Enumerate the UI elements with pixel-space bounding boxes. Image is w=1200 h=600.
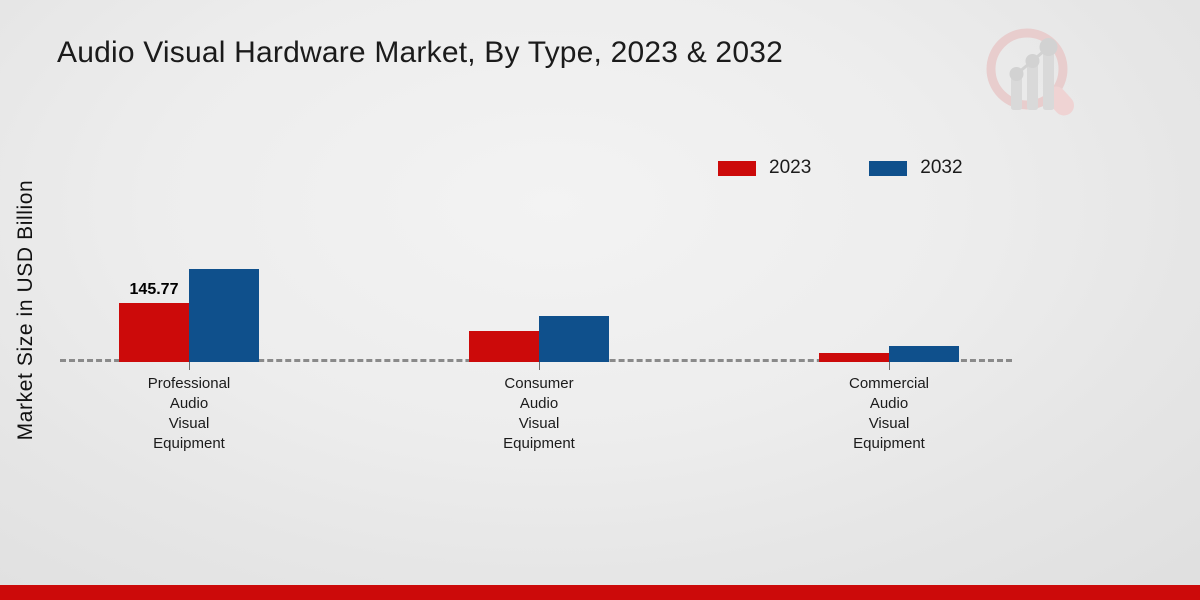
- category-line: Audio: [434, 394, 644, 414]
- footer-accent-bar: [0, 585, 1200, 600]
- plot-area: 145.77 Professional Audio Visual Equipme…: [60, 150, 1012, 362]
- bar-2032-consumer[interactable]: [539, 316, 609, 362]
- category-line: Visual: [784, 414, 994, 434]
- page-title: Audio Visual Hardware Market, By Type, 2…: [57, 36, 783, 70]
- category-line: Visual: [84, 414, 294, 434]
- x-axis-tick: [189, 362, 190, 370]
- category-label-consumer: Consumer Audio Visual Equipment: [434, 374, 644, 454]
- category-line: Audio: [784, 394, 994, 414]
- bar-group-commercial: Commercial Audio Visual Equipment: [818, 150, 960, 362]
- chart-page: Audio Visual Hardware Market, By Type, 2…: [0, 0, 1200, 600]
- y-axis-title: Market Size in USD Billion: [14, 130, 38, 490]
- bar-2032-commercial[interactable]: [889, 346, 959, 362]
- bar-2023-professional[interactable]: 145.77: [119, 303, 189, 362]
- bar-2032-professional[interactable]: [189, 269, 259, 362]
- category-line: Consumer: [434, 374, 644, 394]
- bar-group-bars: [468, 150, 610, 362]
- category-label-commercial: Commercial Audio Visual Equipment: [784, 374, 994, 454]
- x-axis-tick: [889, 362, 890, 370]
- category-line: Equipment: [84, 434, 294, 454]
- category-line: Audio: [84, 394, 294, 414]
- category-line: Professional: [84, 374, 294, 394]
- category-line: Equipment: [784, 434, 994, 454]
- category-line: Commercial: [784, 374, 994, 394]
- bar-group-bars: 145.77: [118, 150, 260, 362]
- bar-group-bars: [818, 150, 960, 362]
- magnifier-bar-chart-logo-icon: [975, 22, 1085, 127]
- x-axis-tick: [539, 362, 540, 370]
- bar-value-label-2023-professional: 145.77: [130, 281, 179, 299]
- bar-2023-consumer[interactable]: [469, 331, 539, 362]
- bar-group-consumer: Consumer Audio Visual Equipment: [468, 150, 610, 362]
- category-line: Equipment: [434, 434, 644, 454]
- bar-group-professional: 145.77 Professional Audio Visual Equipme…: [118, 150, 260, 362]
- category-line: Visual: [434, 414, 644, 434]
- category-label-professional: Professional Audio Visual Equipment: [84, 374, 294, 454]
- bar-2023-commercial[interactable]: [819, 353, 889, 362]
